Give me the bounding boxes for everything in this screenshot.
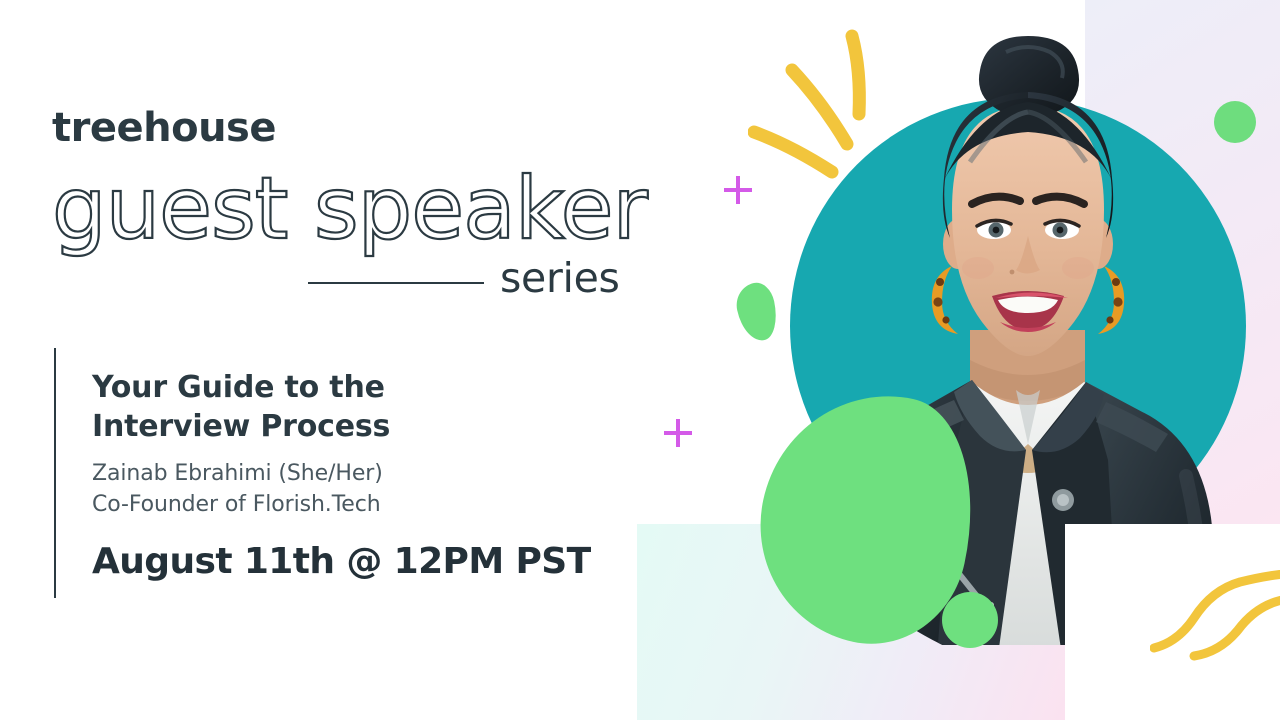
svg-text:guest speaker: guest speaker <box>52 159 649 259</box>
event-title: Your Guide to the Interview Process <box>92 368 632 446</box>
magenta-plus-icon-top <box>724 176 752 204</box>
guest-speaker-promo-slide: treehouse guest speaker series Your Guid… <box>0 0 1280 720</box>
event-date-time: August 11th @ 12PM PST <box>92 542 632 582</box>
magenta-plus-icon-bottom <box>664 419 692 447</box>
yellow-wave-lines-icon <box>1150 570 1280 680</box>
green-blob-small <box>732 280 781 345</box>
event-title-line-1: Your Guide to the <box>92 368 632 407</box>
series-label: series <box>500 258 620 299</box>
info-block-vertical-rule <box>54 348 56 598</box>
treehouse-wordmark: treehouse <box>52 108 276 148</box>
guest-speaker-headline: guest speaker <box>48 158 668 263</box>
green-circle-bottom <box>942 592 998 648</box>
speaker-role: Co-Founder of Florish.Tech <box>92 489 632 520</box>
yellow-sparkle-strokes-icon <box>748 28 898 188</box>
event-title-line-2: Interview Process <box>92 407 632 446</box>
speaker-details: Zainab Ebrahimi (She/Her) Co-Founder of … <box>92 458 632 520</box>
event-info-block: Your Guide to the Interview Process Zain… <box>92 368 632 582</box>
series-divider-rule <box>308 282 484 284</box>
speaker-name: Zainab Ebrahimi (She/Her) <box>92 458 632 489</box>
